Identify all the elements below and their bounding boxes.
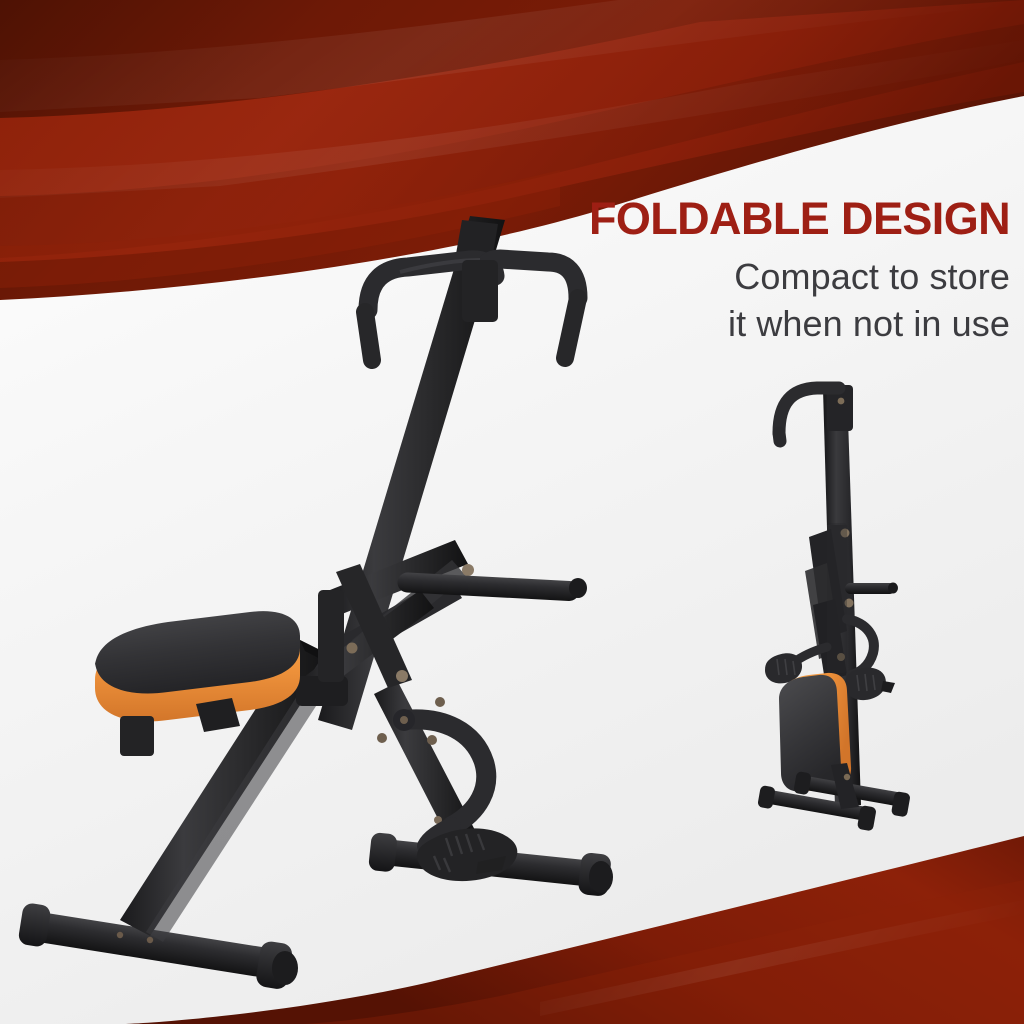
subtitle-line-1: Compact to store — [530, 254, 1010, 301]
seat-lever — [196, 698, 240, 732]
pedal-pivot — [393, 709, 415, 731]
seat-pad-cushion — [779, 675, 841, 791]
subtitle: Compact to store it when not in use — [530, 254, 1010, 348]
seat-bracket — [120, 716, 154, 756]
base-end-cap — [368, 832, 398, 873]
footplate — [845, 668, 895, 700]
rowing-machine-folded — [735, 375, 930, 855]
headline-block: FOLDABLE DESIGN Compact to store it when… — [530, 196, 1010, 347]
base-tubes — [757, 763, 911, 831]
subtitle-line-2: it when not in use — [530, 301, 1010, 348]
cross-bar — [845, 583, 898, 595]
product-feature-banner: FOLDABLE DESIGN Compact to store it when… — [0, 0, 1024, 1024]
page-title: FOLDABLE DESIGN — [530, 196, 1010, 242]
